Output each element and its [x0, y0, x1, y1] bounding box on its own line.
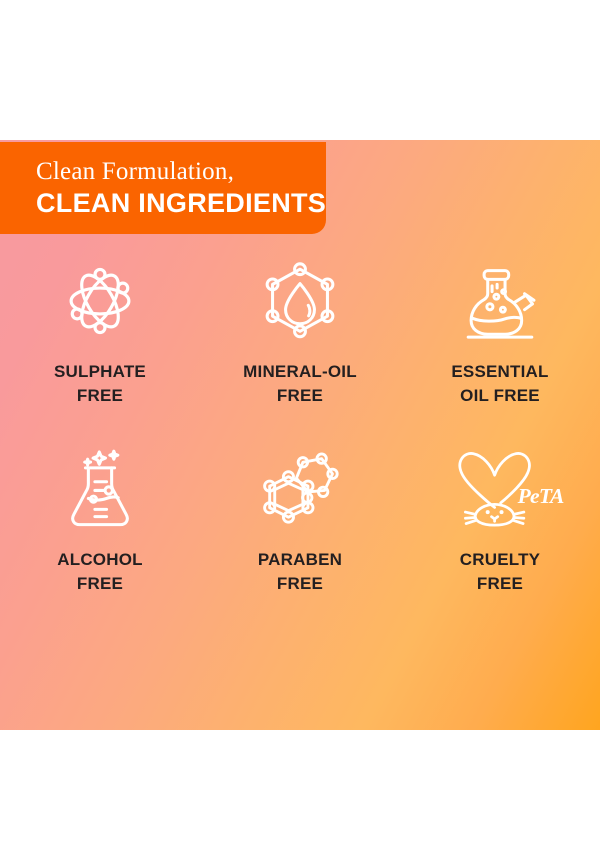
svg-text:PeTA: PeTA — [517, 484, 564, 508]
poster-root: Clean Formulation, CLEAN INGREDIENTS SUL… — [0, 0, 600, 866]
feature-cruelty-free: PeTA CRUELTY FREE — [400, 446, 600, 596]
peta-bunny-heart-icon: PeTA — [457, 446, 543, 532]
molecule-rings-icon — [257, 446, 343, 532]
feature-label: SULPHATE FREE — [54, 360, 146, 408]
heading-line-serif: Clean Formulation, — [36, 157, 306, 187]
feature-mineral-oil-free: MINERAL-OIL FREE — [200, 258, 400, 408]
feature-label: CRUELTY FREE — [460, 548, 540, 596]
feature-label: ALCOHOL FREE — [57, 548, 142, 596]
heading-banner: Clean Formulation, CLEAN INGREDIENTS — [0, 142, 326, 234]
feature-paraben-free: PARABEN FREE — [200, 446, 400, 596]
conical-flask-sparkle-icon — [57, 446, 143, 532]
features-grid: SULPHATE FREE MINERAL-OIL FREE — [0, 258, 600, 596]
feature-label: ESSENTIAL OIL FREE — [451, 360, 548, 408]
round-flask-icon — [457, 258, 543, 344]
feature-essential-oil-free: ESSENTIAL OIL FREE — [400, 258, 600, 408]
feature-label: PARABEN FREE — [258, 548, 342, 596]
heading-line-bold: CLEAN INGREDIENTS — [36, 187, 306, 220]
feature-label: MINERAL-OIL FREE — [243, 360, 357, 408]
hexagon-droplet-icon — [257, 258, 343, 344]
feature-sulphate-free: SULPHATE FREE — [0, 258, 200, 408]
feature-alcohol-free: ALCOHOL FREE — [0, 446, 200, 596]
atom-icon — [57, 258, 143, 344]
